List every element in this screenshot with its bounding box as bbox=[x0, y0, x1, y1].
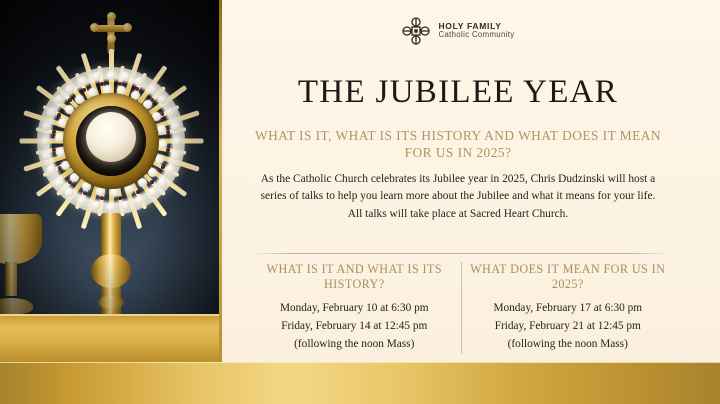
session-column-1: WHAT IS IT AND WHAT IS ITS HISTORY? Mond… bbox=[248, 262, 461, 354]
bottom-gold-bar bbox=[0, 362, 720, 404]
session-2-heading: WHAT DOES IT MEAN FOR US IN 2025? bbox=[468, 262, 669, 292]
body-paragraph: As the Catholic Church celebrates its Ju… bbox=[258, 171, 658, 223]
brand-tagline: Catholic Community bbox=[438, 31, 514, 40]
session-2-date-2: Friday, February 21 at 12:45 pm bbox=[468, 317, 669, 335]
session-2-note: (following the noon Mass) bbox=[468, 335, 669, 353]
session-1-note: (following the noon Mass) bbox=[254, 335, 455, 353]
horizontal-divider bbox=[250, 253, 672, 254]
session-1-date-1: Monday, February 10 at 6:30 pm bbox=[254, 299, 455, 317]
photo-gold-floor bbox=[0, 314, 222, 362]
flyer-canvas: HOLY FAMILY Catholic Community THE JUBIL… bbox=[0, 0, 720, 404]
sessions-columns: WHAT IS IT AND WHAT IS ITS HISTORY? Mond… bbox=[248, 262, 674, 354]
cross-lobed-icon bbox=[401, 16, 431, 46]
session-1-date-2: Friday, February 14 at 12:45 pm bbox=[254, 317, 455, 335]
page-title: THE JUBILEE YEAR bbox=[222, 76, 694, 109]
content-panel: HOLY FAMILY Catholic Community THE JUBIL… bbox=[222, 0, 720, 362]
session-column-2: WHAT DOES IT MEAN FOR US IN 2025? Monday… bbox=[461, 262, 675, 354]
page-subtitle: WHAT IS IT, WHAT IS ITS HISTORY AND WHAT… bbox=[250, 127, 666, 161]
brand-text: HOLY FAMILY Catholic Community bbox=[438, 22, 514, 40]
photo-vignette bbox=[0, 0, 222, 362]
session-1-heading: WHAT IS IT AND WHAT IS ITS HISTORY? bbox=[254, 262, 455, 292]
brand-header: HOLY FAMILY Catholic Community bbox=[222, 16, 694, 46]
monstrance-photo bbox=[0, 0, 222, 362]
session-2-date-1: Monday, February 17 at 6:30 pm bbox=[468, 299, 669, 317]
